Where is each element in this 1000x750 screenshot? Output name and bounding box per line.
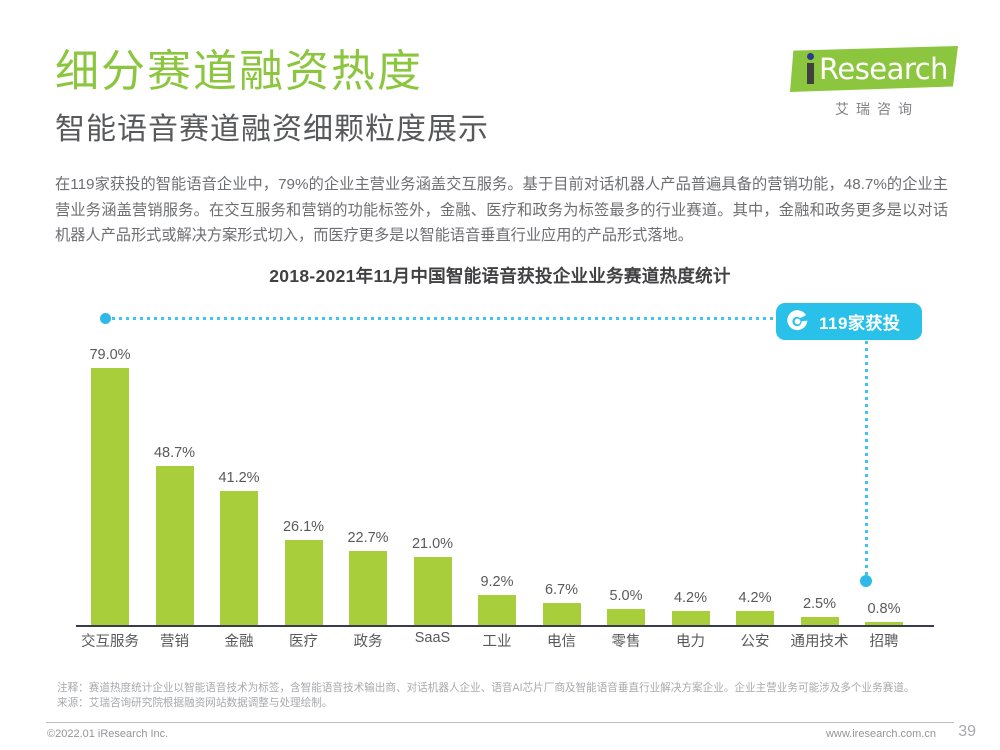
source-text: 来源：艾瑞咨询研究院根据融资网站数据调整与处理绘制。 (57, 696, 947, 711)
x-axis-tick-label: 零售 (594, 630, 658, 651)
logo-wordmark: Research (819, 53, 948, 85)
bar-column[interactable]: 9.2% (465, 300, 529, 625)
bar-column[interactable]: 2.5% (788, 300, 852, 625)
note-text: 注释：赛道热度统计企业以智能语音技术为标签，含智能语音技术输出商、对话机器人企业… (57, 681, 947, 696)
bar[interactable] (220, 491, 258, 625)
x-axis-line (76, 625, 934, 627)
bar[interactable] (91, 368, 129, 625)
x-axis-tick-label: 电力 (659, 630, 723, 651)
callout-horizontal-dotted-line (112, 317, 780, 320)
logo-i-dot-icon (807, 53, 814, 60)
bar[interactable] (736, 611, 774, 625)
x-axis-tick-label: 金融 (207, 630, 271, 651)
bar[interactable] (156, 466, 194, 625)
bar[interactable] (478, 595, 516, 625)
x-axis-tick-label: 工业 (465, 630, 529, 651)
bar-value-label: 4.2% (674, 590, 707, 606)
footer-copyright: ©2022.01 iResearch Inc. (47, 728, 168, 740)
x-axis-tick-label: 公安 (723, 630, 787, 651)
bar-value-label: 6.7% (545, 582, 578, 598)
x-axis-tick-label: SaaS (401, 630, 465, 646)
logo-chinese-name: 艾瑞咨询 (790, 99, 958, 119)
intro-paragraph: 在119家获投的智能语音企业中，79%的企业主营业务涵盖交互服务。基于目前对话机… (55, 172, 948, 249)
bar-value-label: 2.5% (803, 596, 836, 612)
bar[interactable] (414, 557, 452, 625)
bar[interactable] (801, 617, 839, 625)
bar-value-label: 9.2% (480, 574, 513, 590)
bar[interactable] (285, 540, 323, 625)
callout-line-end-dot (860, 575, 872, 587)
x-axis-tick-label: 通用技术 (788, 630, 852, 651)
x-axis-tick-label: 交互服务 (78, 630, 142, 651)
bar-column[interactable]: 26.1% (272, 300, 336, 625)
bar-column[interactable]: 22.7% (336, 300, 400, 625)
bar-chart: 79.0%48.7%41.2%26.1%22.7%21.0%9.2%6.7%5.… (70, 300, 940, 650)
x-axis-tick-label: 政务 (336, 630, 400, 651)
x-axis-tick-label: 电信 (530, 630, 594, 651)
bar[interactable] (607, 609, 645, 625)
bar[interactable] (672, 611, 710, 625)
callout-line-start-dot (100, 313, 111, 324)
bar-value-label: 48.7% (154, 445, 195, 461)
callout-vertical-dotted-line (865, 341, 868, 579)
callout-badge[interactable]: 119家获投 (776, 303, 922, 340)
bar-value-label: 41.2% (218, 470, 259, 486)
bar-column[interactable]: 48.7% (143, 300, 207, 625)
iresearch-logo: Research 艾瑞咨询 (790, 46, 958, 119)
page-number: 39 (958, 723, 976, 741)
bar-column[interactable]: 4.2% (723, 300, 787, 625)
bar-value-label: 26.1% (283, 519, 324, 535)
bar-column[interactable]: 79.0% (78, 300, 142, 625)
bar[interactable] (865, 622, 903, 625)
bar-value-label: 4.2% (738, 590, 771, 606)
callout-label: 119家获投 (819, 309, 900, 334)
bar[interactable] (349, 551, 387, 625)
target-ring-icon (784, 308, 811, 335)
page-title: 细分赛道融资热度 (55, 48, 423, 96)
chart-notes: 注释：赛道热度统计企业以智能语音技术为标签，含智能语音技术输出商、对话机器人企业… (57, 681, 947, 710)
bar-column[interactable]: 21.0% (401, 300, 465, 625)
page-subtitle: 智能语音赛道融资细颗粒度展示 (55, 113, 489, 148)
bar-column[interactable]: 41.2% (207, 300, 271, 625)
bar-column[interactable]: 5.0% (594, 300, 658, 625)
bar-value-label: 5.0% (609, 588, 642, 604)
footer-website: www.iresearch.com.cn (826, 728, 936, 740)
x-axis-tick-label: 医疗 (272, 630, 336, 651)
chart-title: 2018-2021年11月中国智能语音获投企业业务赛道热度统计 (0, 263, 1000, 288)
bar-value-label: 21.0% (412, 536, 453, 552)
bar-column[interactable]: 4.2% (659, 300, 723, 625)
logo-mark: Research (790, 46, 958, 92)
bar-value-label: 79.0% (89, 347, 130, 363)
bar-column[interactable]: 6.7% (530, 300, 594, 625)
bar[interactable] (543, 603, 581, 625)
bar-value-label: 0.8% (867, 601, 900, 617)
x-axis-tick-label: 营销 (143, 630, 207, 651)
x-axis-tick-label: 招聘 (852, 630, 916, 651)
bar-value-label: 22.7% (347, 530, 388, 546)
chart-plot-area: 79.0%48.7%41.2%26.1%22.7%21.0%9.2%6.7%5.… (70, 300, 940, 626)
logo-i-stem-icon (807, 63, 814, 84)
footer-divider (46, 722, 954, 723)
x-axis-labels: 交互服务营销金融医疗政务SaaS工业电信零售电力公安通用技术招聘 (70, 630, 940, 660)
